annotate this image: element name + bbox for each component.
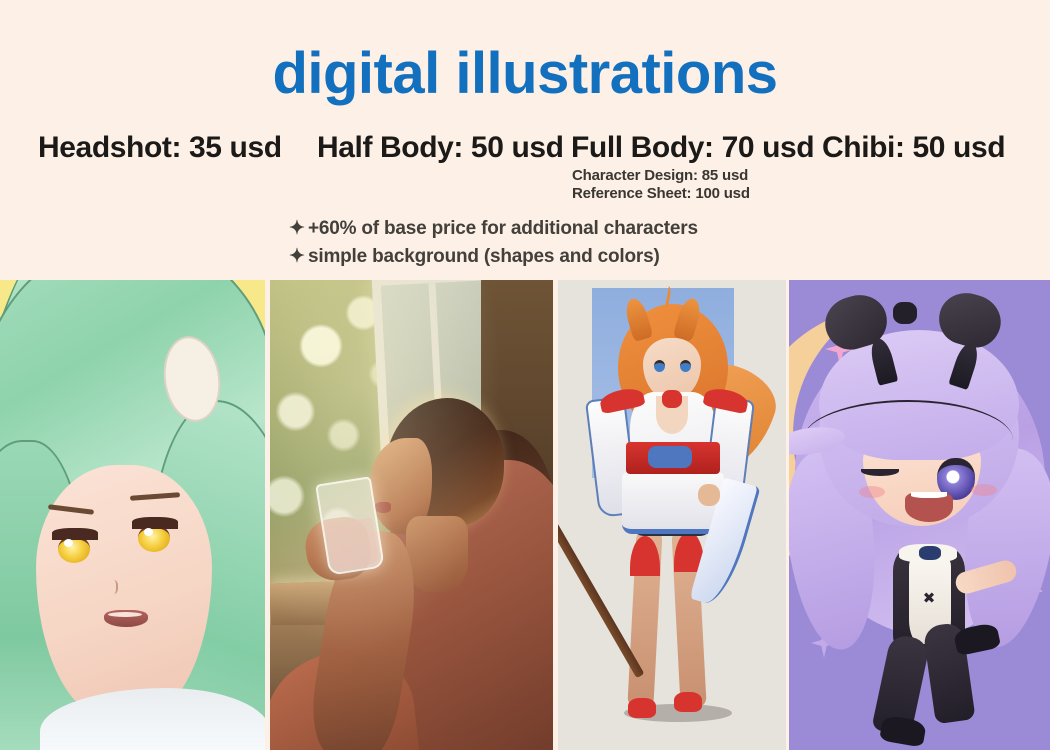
sandal-left xyxy=(628,698,656,718)
lips xyxy=(374,502,391,513)
tier-full-body-price: Full Body: 70 usd xyxy=(571,131,814,165)
eye-glint xyxy=(64,539,73,547)
reference-sheet-price: Reference Sheet: 100 usd xyxy=(572,185,750,203)
bow-knot xyxy=(893,302,917,324)
hand-holding-sword xyxy=(698,484,720,506)
blush-left xyxy=(859,486,885,498)
eye-glint xyxy=(144,528,153,536)
note-text: +60% of base price for additional charac… xyxy=(308,218,698,239)
eye-left xyxy=(52,528,98,564)
neck-ribbon xyxy=(662,390,682,408)
price-tier-row: Headshot: 35 usd Half Body: 50 usd Full … xyxy=(0,131,1050,177)
half-body-sample-image: Painted half body of a woman in profile … xyxy=(270,280,553,750)
tier-half-body-price: Half Body: 50 usd xyxy=(317,131,564,165)
page-title: digital illustrations xyxy=(0,0,1050,105)
character-design-price: Character Design: 85 usd xyxy=(572,167,750,185)
eyelash xyxy=(52,528,98,540)
eye-right xyxy=(132,517,178,553)
nose xyxy=(108,580,118,594)
terms-notes: ✦+60% of base price for additional chara… xyxy=(289,215,698,270)
eye-right xyxy=(680,360,691,372)
cross-detail: ✖ xyxy=(922,592,936,606)
eye-winking xyxy=(861,466,899,476)
chibi-sample-image: ✖ Chibi girl with lavender hair, black b… xyxy=(789,280,1050,750)
sandal-right xyxy=(674,692,702,712)
neck xyxy=(406,516,468,592)
tier-headshot-price: Headshot: 35 usd xyxy=(38,131,282,165)
note-item: ✦simple background (shapes and colors) xyxy=(289,243,698,271)
face xyxy=(36,465,212,721)
sparkle-icon: ✦ xyxy=(289,215,308,243)
extra-prices: Character Design: 85 usd Reference Sheet… xyxy=(572,167,750,204)
mouth xyxy=(104,610,148,627)
eyelash xyxy=(132,517,178,529)
sparkle-icon: ✦ xyxy=(289,243,308,271)
bow-tie xyxy=(919,546,941,560)
note-text: simple background (shapes and colors) xyxy=(308,246,660,267)
headshot-sample-image: Anime headshot of a girl with mint green… xyxy=(0,280,265,750)
obi-knot xyxy=(648,446,692,468)
price-sheet-header: digital illustrations Headshot: 35 usd H… xyxy=(0,0,1050,280)
blush-right xyxy=(971,484,997,496)
sample-gallery: Anime headshot of a girl with mint green… xyxy=(0,280,1050,750)
note-item: ✦+60% of base price for additional chara… xyxy=(289,215,698,243)
open-mouth xyxy=(905,492,953,522)
full-body-sample-image: Full body character of an orange haired … xyxy=(558,280,786,750)
tier-chibi-price: Chibi: 50 usd xyxy=(822,131,1005,165)
eye-left xyxy=(654,360,665,372)
